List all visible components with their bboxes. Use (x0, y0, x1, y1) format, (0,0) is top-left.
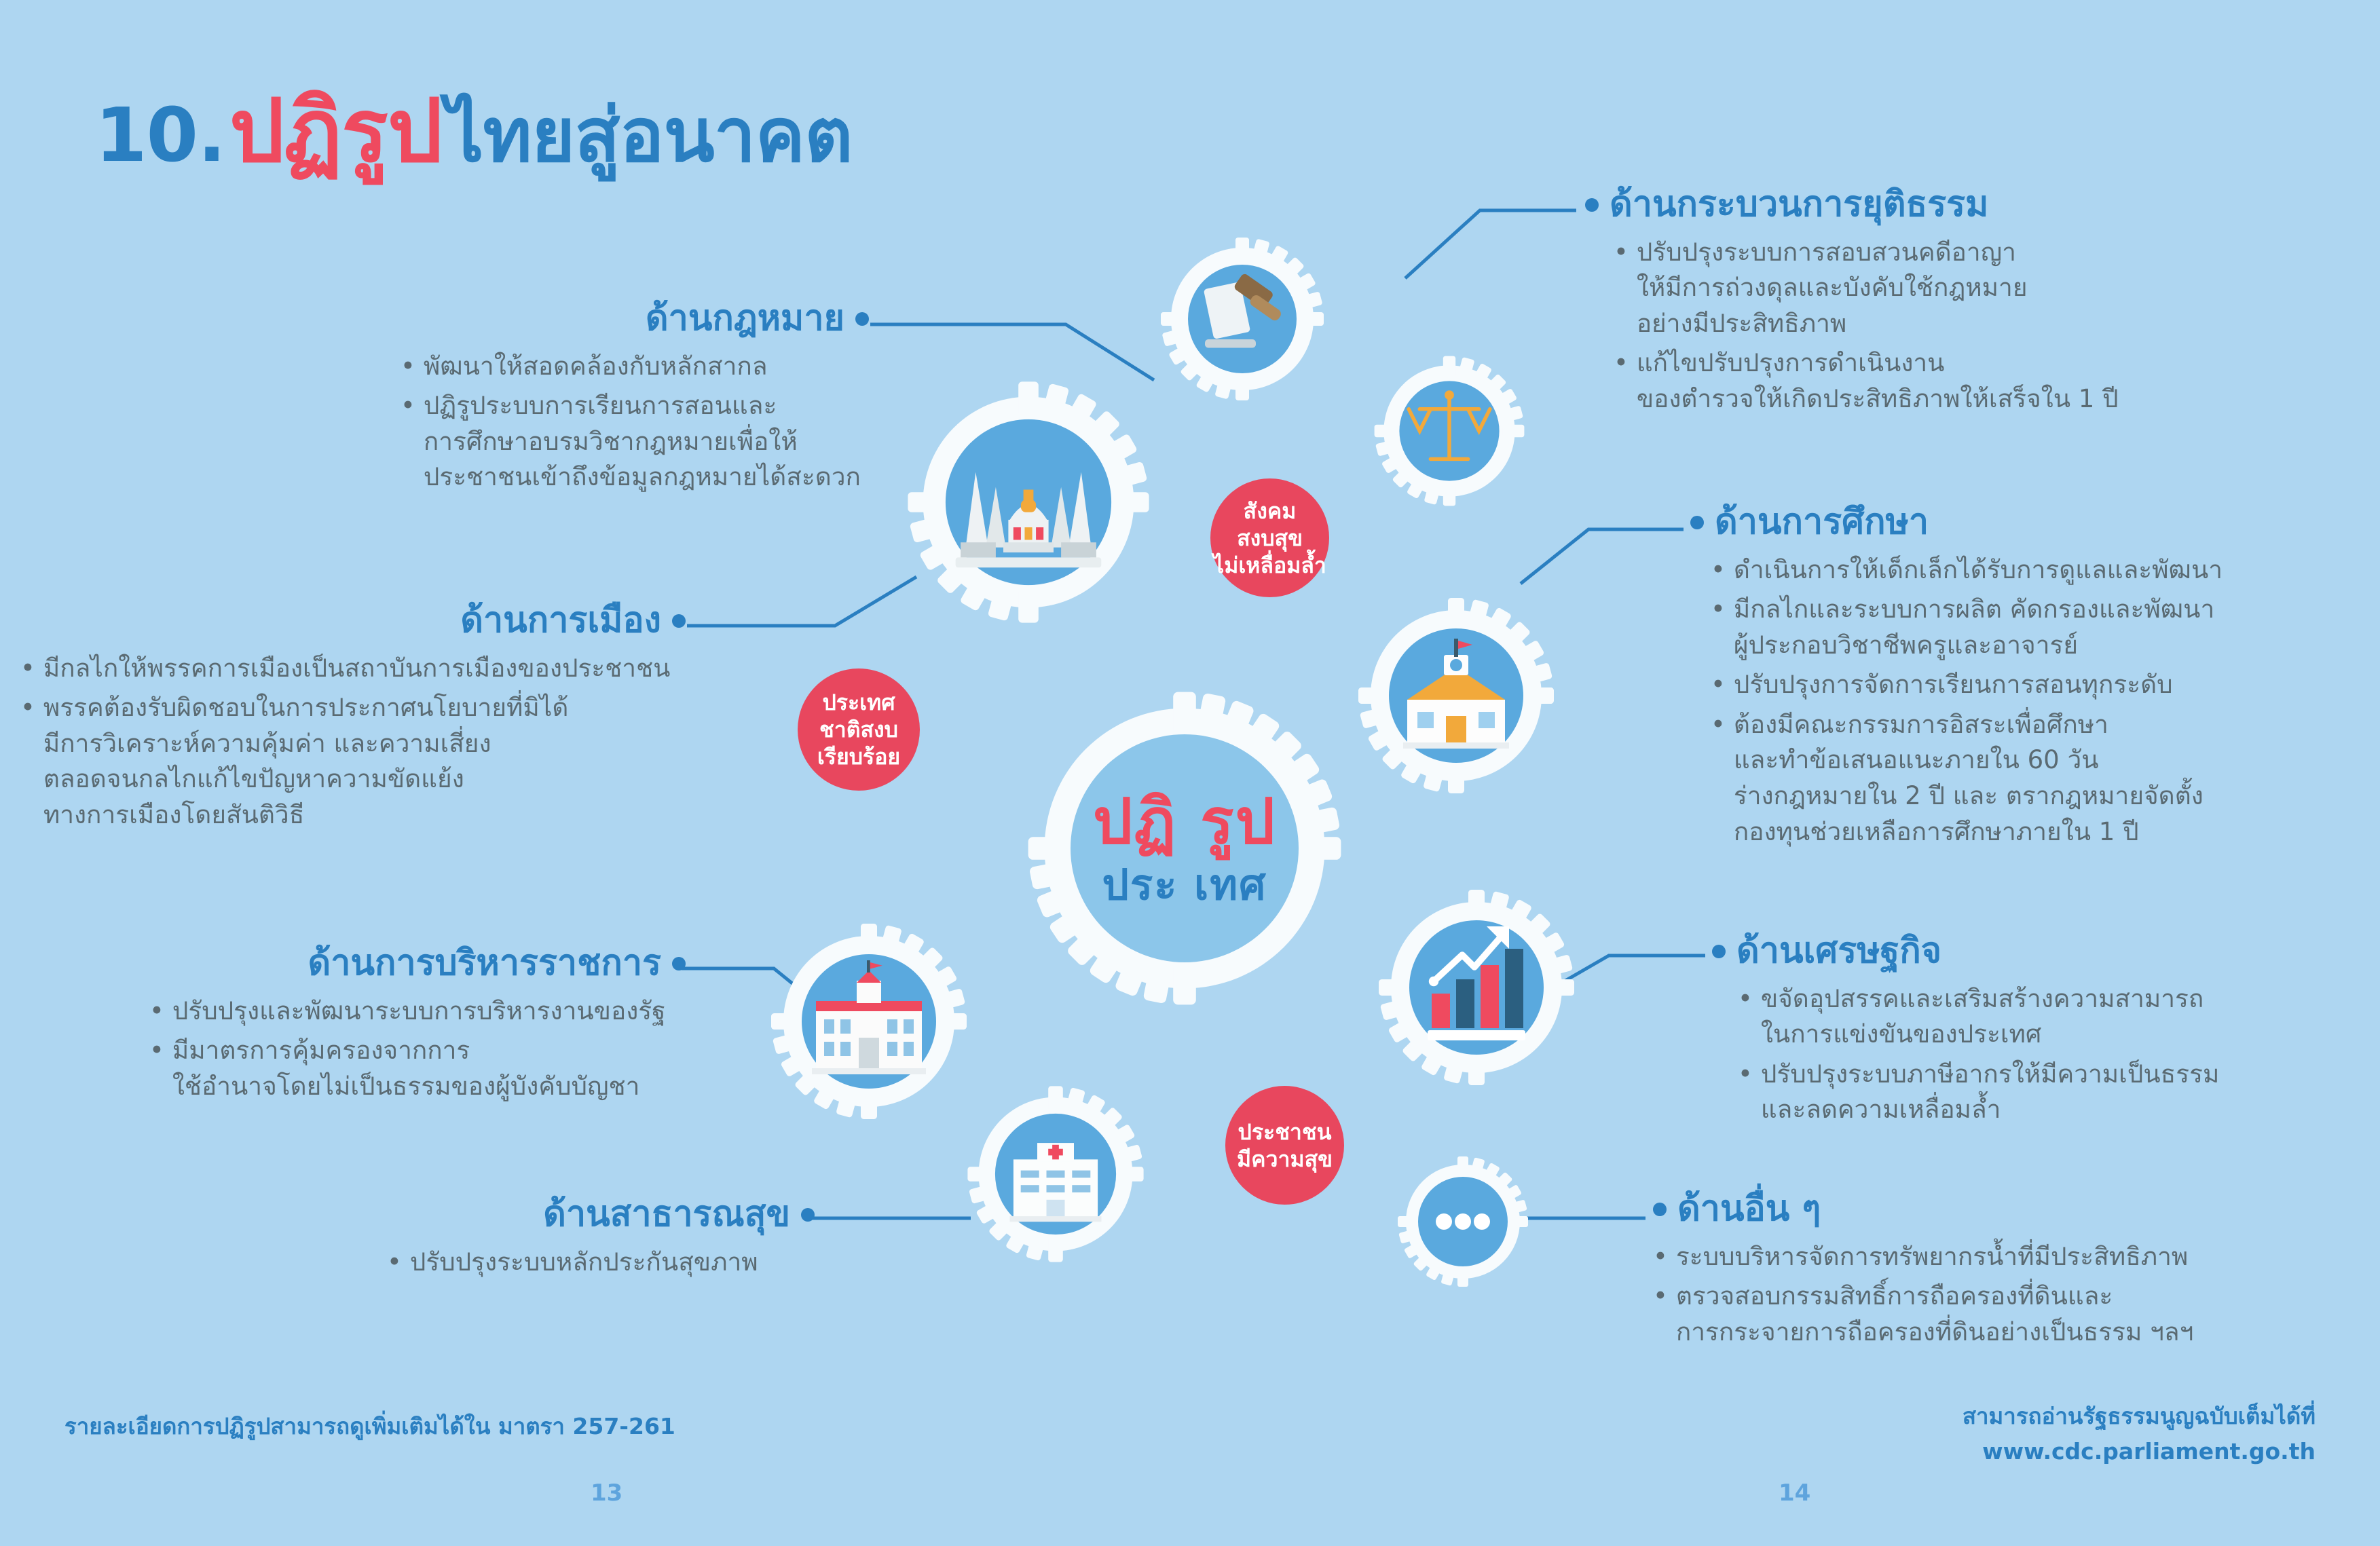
badge-people: ประชาชน มีความสุข (1225, 1086, 1344, 1205)
section-education-bullets: • ดำเนินการให้เด็กเล็กได้รับการดูแลและพั… (1711, 552, 2376, 850)
bullet-text: พัฒนาให้สอดคล้องกับหลักสากล (424, 349, 768, 385)
gear-monument (903, 377, 1154, 628)
section-administration-header[interactable]: ด้านการบริหารราชการ (136, 943, 686, 984)
connector-dot (1690, 516, 1704, 529)
list-item: • ตรวจสอบกรรมสิทธิ์การถือครองที่ดินและ ก… (1653, 1279, 2376, 1350)
gear-school (1354, 594, 1558, 797)
bullet-dot: • (20, 651, 35, 687)
section-health-bullets: • ปรับปรุงระบบหลักประกันสุขภาพ (387, 1245, 815, 1281)
list-item: • ต้องมีคณะกรรมการอิสระเพื่อศึกษา และทำข… (1711, 707, 2376, 850)
badge-society: สังคม สงบสุข ไม่เหลื่อมล้ำ (1210, 478, 1329, 597)
bullet-dot: • (1711, 667, 1726, 703)
bullet-dot: • (20, 690, 35, 833)
bullet-text: ดำเนินการให้เด็กเล็กได้รับการดูแลและพัฒน… (1734, 552, 2223, 588)
title-highlight: ปฏิรูป (229, 88, 442, 175)
bullet-dot: • (401, 349, 415, 385)
connector-dot (855, 312, 869, 326)
section-health-heading: ด้านสาธารณสุข (543, 1194, 790, 1235)
list-item: • พัฒนาให้สอดคล้องกับหลักสากล (401, 349, 869, 385)
section-politics-bullets: • มีกลไกให้พรรคการเมืองเป็นสถาบันการเมือ… (20, 651, 686, 833)
section-economy-bullets: • ขจัดอุปสรรคและเสริมสร้างความสามารถ ในก… (1738, 981, 2380, 1128)
connector-dot (1712, 945, 1726, 958)
footnote-right-line1: สามารถอ่านรัฐธรรมนูญฉบับเต็มได้ที่ (1963, 1398, 2316, 1434)
list-item: • ปรับปรุงระบบภาษีอากรให้มีความเป็นธรรม … (1738, 1057, 2380, 1128)
connector-dot (672, 614, 686, 628)
section-law-header[interactable]: ด้านกฎหมาย (326, 299, 869, 339)
section-economy-heading: ด้านเศรษฐกิจ (1736, 931, 1941, 972)
bullet-text: ปรับปรุงการจัดการเรียนการสอนทุกระดับ (1734, 667, 2173, 703)
section-other-header[interactable]: ด้านอื่น ๆ (1653, 1189, 2376, 1230)
section-politics-header[interactable]: ด้านการเมือง (20, 601, 686, 641)
section-politics-heading: ด้านการเมือง (460, 601, 661, 641)
bullet-text: มีมาตรการคุ้มครองจากการ ใช้อำนาจโดยไม่เป… (172, 1033, 640, 1104)
ellipsis-icon (1436, 1213, 1490, 1230)
section-other-bullets: • ระบบบริหารจัดการทรัพยากรน้ำที่มีประสิท… (1653, 1239, 2376, 1351)
section-health-header[interactable]: ด้านสาธารณสุข (258, 1194, 815, 1235)
section-justice-heading: ด้านกระบวนการยุติธรรม (1610, 185, 1988, 225)
gear-hospital (964, 1082, 1147, 1266)
footnote-left: รายละเอียดการปฏิรูปสามารถดูเพิ่มเติมได้ใ… (64, 1408, 675, 1444)
badge-nation: ประเทศ ชาติสงบ เรียบร้อย (798, 668, 920, 791)
badge-nation-text: ประเทศ ชาติสงบ เรียบร้อย (817, 689, 900, 770)
gear-other (1395, 1154, 1531, 1289)
bullet-dot: • (1711, 592, 1726, 663)
badge-society-text: สังคม สงบสุข ไม่เหลื่อมล้ำ (1213, 497, 1326, 579)
connector-dot (1585, 198, 1599, 212)
bullet-text: ปรับปรุงระบบภาษีอากรให้มีความเป็นธรรม แล… (1761, 1057, 2220, 1128)
page-title: 10. ปฏิรูป ไทยสู่อนาคต (95, 88, 853, 175)
badge-people-text: ประชาชน มีความสุข (1237, 1118, 1333, 1173)
footnote-right-line2[interactable]: www.cdc.parliament.go.th (1963, 1438, 2316, 1465)
bullet-text: มีกลไกให้พรรคการเมืองเป็นสถาบันการเมืองข… (43, 651, 671, 687)
list-item: • พรรคต้องรับผิดชอบในการประกาศนโยบายที่ม… (20, 690, 686, 833)
title-number: 10. (95, 98, 225, 172)
list-item: • ปรับปรุงระบบการสอบสวนคดีอาญา ให้มีการถ… (1614, 235, 2352, 342)
center-hub-line2: ประ เทศ (1022, 864, 1347, 906)
list-item: • ปรับปรุงและพัฒนาระบบการบริหารงานของรัฐ (149, 994, 686, 1030)
bullet-text: ปรับปรุงระบบการสอบสวนคดีอาญา ให้มีการถ่ว… (1637, 235, 2028, 342)
gear-government (767, 920, 971, 1123)
gear-gavel (1157, 234, 1327, 404)
list-item: • ดำเนินการให้เด็กเล็กได้รับการดูแลและพั… (1711, 552, 2376, 588)
section-economy: ด้านเศรษฐกิจ • ขจัดอุปสรรคและเสริมสร้างค… (1712, 931, 2380, 1132)
page-number-right: 14 (1779, 1479, 1810, 1507)
bullet-text: แก้ไขปรับปรุงการดำเนินงาน ของตำรวจให้เกิ… (1637, 345, 2119, 417)
bullet-dot: • (1711, 707, 1726, 850)
section-economy-header[interactable]: ด้านเศรษฐกิจ (1712, 931, 2380, 972)
bullet-text: ขจัดอุปสรรคและเสริมสร้างความสามารถ ในการ… (1761, 981, 2204, 1053)
title-rest: ไทยสู่อนาคต (446, 98, 852, 172)
bullet-dot: • (1738, 1057, 1753, 1128)
infographic-canvas: 10. ปฏิรูป ไทยสู่อนาคต (0, 0, 2380, 1546)
page-number-left: 13 (591, 1479, 622, 1507)
list-item: • แก้ไขปรับปรุงการดำเนินงาน ของตำรวจให้เ… (1614, 345, 2352, 417)
list-item: • ปรับปรุงระบบหลักประกันสุขภาพ (387, 1245, 815, 1281)
bullet-dot: • (1614, 235, 1629, 342)
list-item: • ระบบบริหารจัดการทรัพยากรน้ำที่มีประสิท… (1653, 1239, 2376, 1275)
section-law: ด้านกฎหมาย • พัฒนาให้สอดคล้องกับหลักสากล… (326, 299, 869, 499)
bullet-dot: • (149, 1033, 164, 1104)
bullet-text: ตรวจสอบกรรมสิทธิ์การถือครองที่ดินและ การ… (1676, 1279, 2194, 1350)
center-hub-label: ปฏิ รูป ประ เทศ (1022, 791, 1347, 906)
section-education-header[interactable]: ด้านการศึกษา (1690, 502, 2376, 543)
list-item: • มีกลไกให้พรรคการเมืองเป็นสถาบันการเมือ… (20, 651, 686, 687)
list-item: • มีกลไกและระบบการผลิต คัดกรองและพัฒนา ผ… (1711, 592, 2376, 663)
bullet-text: มีกลไกและระบบการผลิต คัดกรองและพัฒนา ผู้… (1734, 592, 2214, 663)
section-politics: ด้านการเมือง • มีกลไกให้พรรคการเมืองเป็น… (20, 601, 686, 837)
bullet-text: พรรคต้องรับผิดชอบในการประกาศนโยบายที่มิไ… (43, 690, 569, 833)
bullet-text: ระบบบริหารจัดการทรัพยากรน้ำที่มีประสิทธิ… (1676, 1239, 2188, 1275)
bullet-dot: • (1614, 345, 1629, 417)
bullet-text: ปรับปรุงและพัฒนาระบบการบริหารงานของรัฐ (172, 994, 666, 1030)
section-administration-heading: ด้านการบริหารราชการ (308, 943, 661, 984)
bullet-dot: • (1738, 981, 1753, 1053)
section-administration-bullets: • ปรับปรุงและพัฒนาระบบการบริหารงานของรัฐ… (149, 994, 686, 1105)
bullet-text: ปฏิรูประบบการเรียนการสอนและ การศึกษาอบรม… (424, 388, 861, 495)
connector-dot (801, 1208, 815, 1222)
bullet-text: ต้องมีคณะกรรมการอิสระเพื่อศึกษา และทำข้อ… (1734, 707, 2204, 850)
section-education: ด้านการศึกษา • ดำเนินการให้เด็กเล็กได้รั… (1690, 502, 2376, 854)
bullet-dot: • (1653, 1239, 1668, 1275)
list-item: • มีมาตรการคุ้มครองจากการ ใช้อำนาจโดยไม่… (149, 1033, 686, 1104)
connector-dot (1653, 1203, 1667, 1216)
section-education-heading: ด้านการศึกษา (1715, 502, 1929, 543)
bullet-dot: • (1711, 552, 1726, 588)
section-justice-bullets: • ปรับปรุงระบบการสอบสวนคดีอาญา ให้มีการถ… (1614, 235, 2352, 417)
section-other-heading: ด้านอื่น ๆ (1677, 1189, 1821, 1230)
section-health: ด้านสาธารณสุข • ปรับปรุงระบบหลักประกันสุ… (258, 1194, 815, 1284)
bullet-dot: • (401, 388, 415, 495)
list-item: • ขจัดอุปสรรคและเสริมสร้างความสามารถ ในก… (1738, 981, 2380, 1053)
section-other: ด้านอื่น ๆ • ระบบบริหารจัดการทรัพยากรน้ำ… (1653, 1189, 2376, 1354)
section-justice-header[interactable]: ด้านกระบวนการยุติธรรม (1585, 185, 2352, 225)
gear-scales (1371, 353, 1527, 509)
gear-center-hub: ปฏิ รูป ประ เทศ (1022, 685, 1347, 1011)
list-item: • ปฏิรูประบบการเรียนการสอนและ การศึกษาอบ… (401, 388, 869, 495)
footnote-right: สามารถอ่านรัฐธรรมนูญฉบับเต็มได้ที่ www.c… (1963, 1398, 2316, 1465)
section-justice: ด้านกระบวนการยุติธรรม • ปรับปรุงระบบการส… (1585, 185, 2352, 421)
connector-dot (672, 957, 686, 970)
center-hub-line1: ปฏิ รูป (1022, 791, 1347, 853)
bullet-dot: • (149, 994, 164, 1030)
section-law-heading: ด้านกฎหมาย (646, 299, 844, 339)
bullet-dot: • (387, 1245, 402, 1281)
list-item: • ปรับปรุงการจัดการเรียนการสอนทุกระดับ (1711, 667, 2376, 703)
gear-economy-chart (1375, 886, 1578, 1089)
section-law-bullets: • พัฒนาให้สอดคล้องกับหลักสากล • ปฏิรูประ… (401, 349, 869, 495)
section-administration: ด้านการบริหารราชการ • ปรับปรุงและพัฒนาระ… (136, 943, 686, 1108)
bullet-text: ปรับปรุงระบบหลักประกันสุขภาพ (410, 1245, 758, 1281)
bullet-dot: • (1653, 1279, 1668, 1350)
